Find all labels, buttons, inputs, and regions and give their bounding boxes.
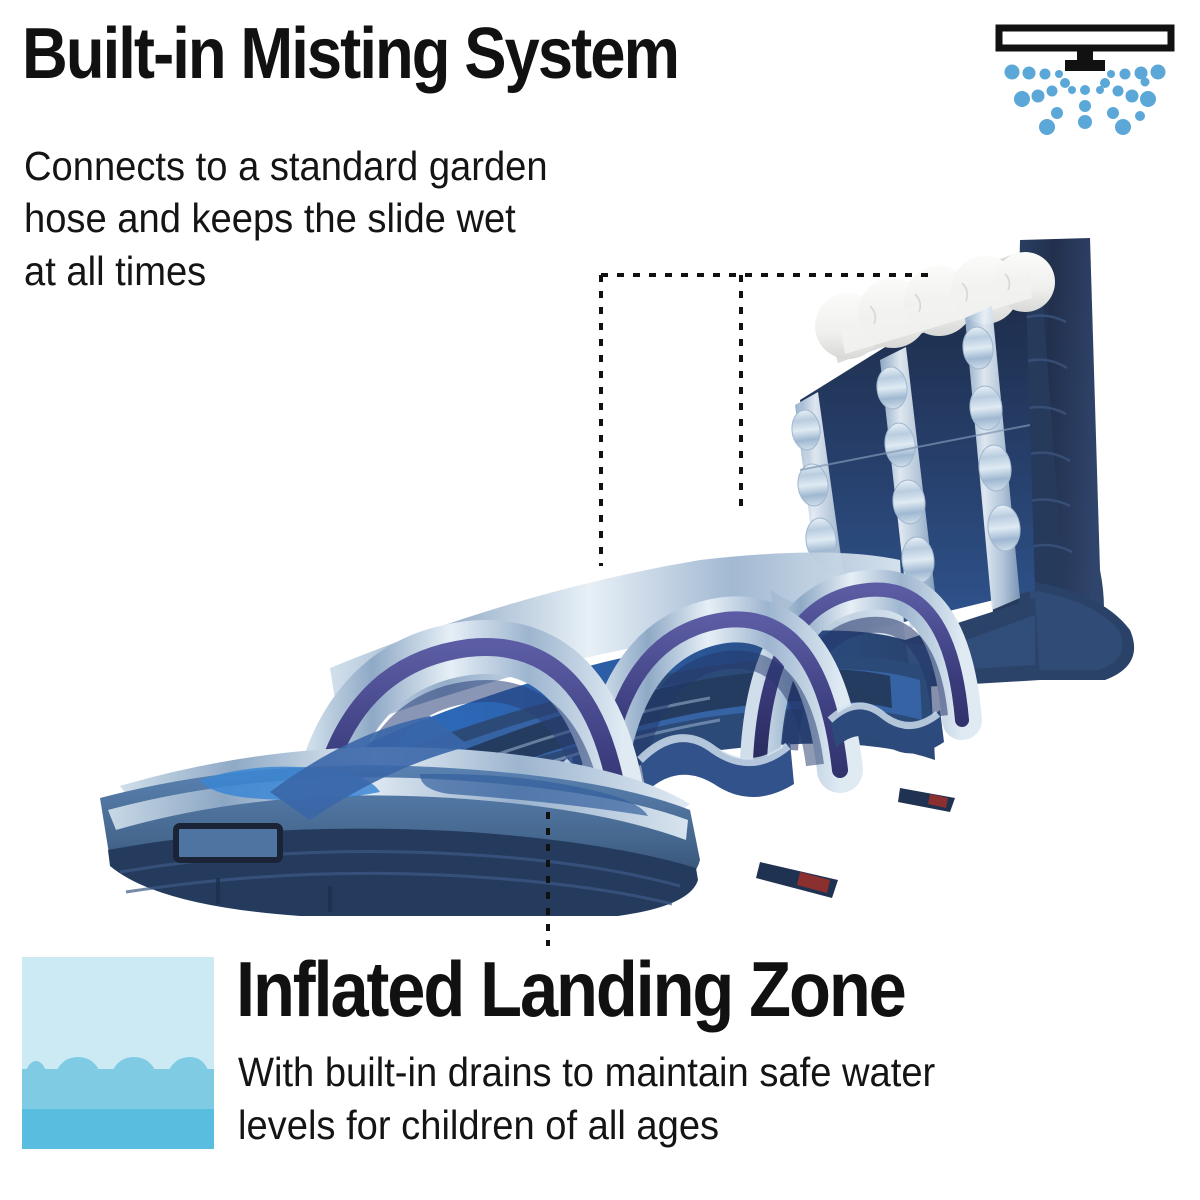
pool-drain-panel [176, 826, 280, 860]
landing-description-line-1: With built-in drains to maintain safe wa… [238, 1046, 1149, 1099]
landing-zone-heading: Inflated Landing Zone [236, 950, 1098, 1028]
sprinkler-head [999, 28, 1171, 71]
infographic-canvas: Built-in Misting System Connects to a st… [0, 0, 1200, 1200]
anchor-straps [756, 788, 955, 898]
inflatable-water-slide [0, 120, 1200, 950]
landing-zone-description: With built-in drains to maintain safe wa… [238, 1046, 1149, 1153]
misting-system-heading: Built-in Misting System [22, 18, 911, 90]
water-waves-icon [22, 957, 214, 1149]
landing-description-line-2: levels for children of all ages [238, 1099, 1149, 1152]
